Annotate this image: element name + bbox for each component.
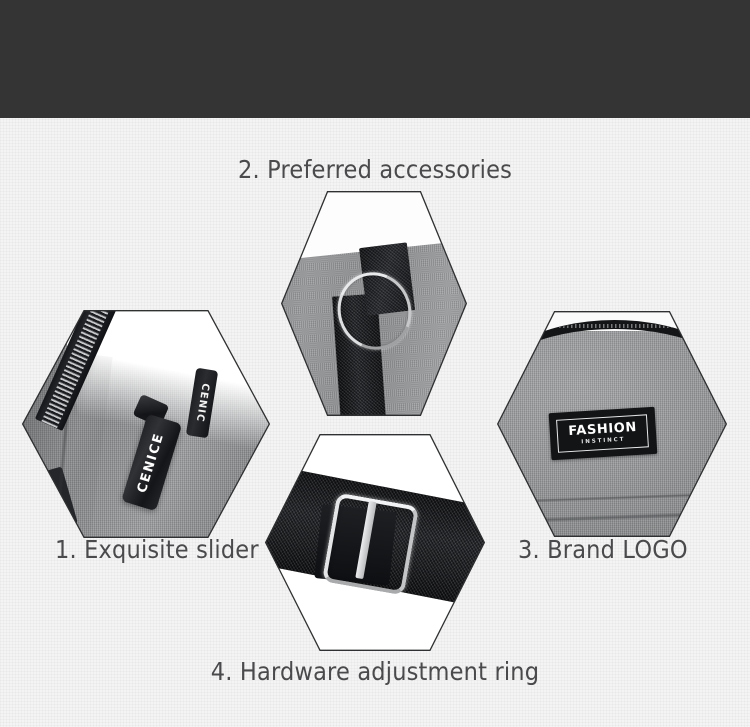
secondary-brand-tag-text: CENIC [193,383,210,424]
brand-logo-patch: FASHION INSTINCT [549,407,657,461]
brand-logo-main-text: FASHION [568,422,637,439]
brand-logo-patch-frame: FASHION INSTINCT [556,415,649,454]
photo-hardware-adjustment-ring [265,434,485,651]
photo-exquisite-slider: CENIC CENICE [22,310,270,538]
panel-image-hardware-adjustment-ring [265,434,485,651]
caption-preferred-accessories: 2. Preferred accessories [38,155,713,184]
photo-preferred-accessories [281,191,467,416]
caption-hardware-adjustment-ring: 4. Hardware adjustment ring [38,657,713,686]
infographic-page: Highlight Analysis 2. Preferred accessor… [0,0,750,727]
header-banner [0,0,750,118]
photo-brand-logo: FASHION INSTINCT [497,311,727,537]
panel-image-preferred-accessories [281,191,467,416]
caption-exquisite-slider: 1. Exquisite slider [55,535,259,564]
bag-zipper-teeth [497,321,727,392]
zipper-pull-tab-text: CENICE [136,431,169,495]
panel-image-brand-logo: FASHION INSTINCT [497,311,727,537]
brand-logo-sub-text: INSTINCT [581,438,625,446]
caption-brand-logo: 3. Brand LOGO [518,535,688,564]
panel-image-exquisite-slider: CENIC CENICE [22,310,270,538]
